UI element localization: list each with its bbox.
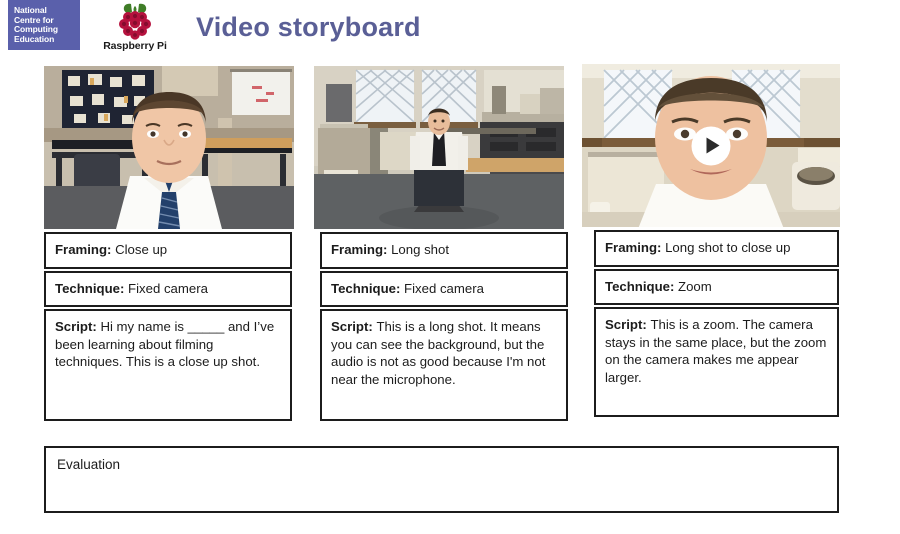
framing-value: Long shot to close up: [665, 240, 790, 255]
technique-row-2: Technique: Fixed camera: [320, 271, 568, 308]
framing-label: Framing:: [605, 240, 665, 255]
script-label: Script:: [55, 319, 100, 334]
script-label: Script:: [331, 319, 376, 334]
technique-value: Zoom: [678, 279, 712, 294]
page-title: Video storyboard: [196, 12, 421, 43]
framing-label: Framing:: [331, 242, 391, 257]
thumbnail-long-shot[interactable]: [314, 66, 564, 229]
raspberry-pi-logo: Raspberry Pi: [92, 2, 178, 58]
raspberry-icon: [110, 2, 160, 42]
script-row-1: Script: Hi my name is _____ and I’ve bee…: [44, 309, 292, 421]
technique-row-3: Technique: Zoom: [594, 269, 839, 306]
thumbnail-zoom-video[interactable]: [582, 64, 840, 227]
framing-row-1: Framing: Close up: [44, 232, 292, 269]
storyboard-column-2: Framing: Long shot Technique: Fixed came…: [320, 66, 568, 421]
framing-value: Close up: [115, 242, 167, 257]
storyboard-column-1: Framing: Close up Technique: Fixed camer…: [44, 66, 292, 421]
page-header: National Centre for Computing Education: [0, 0, 900, 62]
ncce-logo-line-4: Education: [14, 35, 76, 45]
storyboard-column-3: Framing: Long shot to close up Technique…: [594, 66, 839, 417]
play-button[interactable]: [692, 126, 731, 165]
ncce-logo: National Centre for Computing Education: [8, 0, 80, 50]
technique-label: Technique:: [605, 279, 678, 294]
technique-value: Fixed camera: [128, 281, 208, 296]
framing-label: Framing:: [55, 242, 115, 257]
play-icon: [707, 138, 720, 154]
evaluation-box[interactable]: Evaluation: [44, 446, 839, 513]
thumbnail-close-up[interactable]: [44, 66, 294, 229]
technique-value: Fixed camera: [404, 281, 484, 296]
script-label: Script:: [605, 317, 650, 332]
framing-row-3: Framing: Long shot to close up: [594, 230, 839, 267]
script-row-3: Script: This is a zoom. The camera stays…: [594, 307, 839, 417]
script-row-2: Script: This is a long shot. It means yo…: [320, 309, 568, 421]
technique-row-1: Technique: Fixed camera: [44, 271, 292, 308]
evaluation-label: Evaluation: [57, 457, 826, 472]
framing-value: Long shot: [391, 242, 449, 257]
framing-row-2: Framing: Long shot: [320, 232, 568, 269]
classroom-longshot-photo: [314, 66, 564, 229]
technique-label: Technique:: [55, 281, 128, 296]
storyboard-page: National Centre for Computing Education: [0, 0, 900, 534]
classroom-closeup-photo: [44, 66, 294, 229]
technique-label: Technique:: [331, 281, 404, 296]
raspberry-pi-label: Raspberry Pi: [92, 40, 178, 52]
